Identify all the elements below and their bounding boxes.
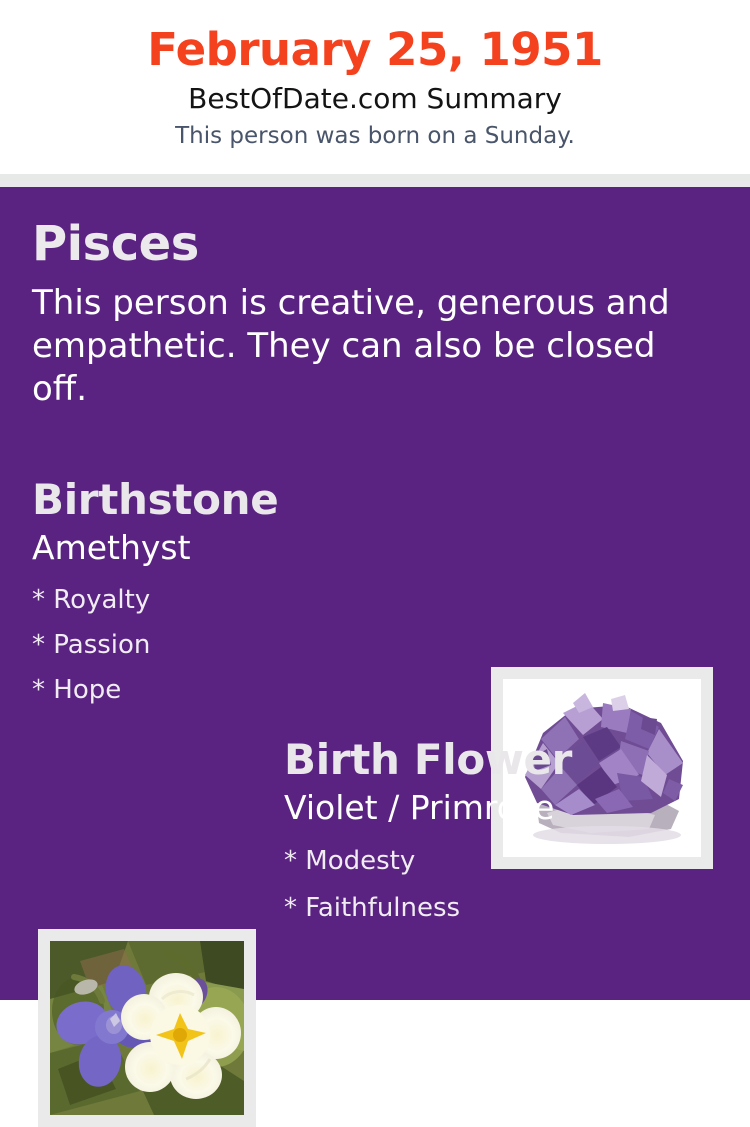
flower-icon	[50, 941, 244, 1115]
site-summary-label: BestOfDate.com Summary	[0, 81, 750, 117]
list-item: * Faithfulness	[284, 885, 734, 931]
birthstone-trait-list: * Royalty * Passion * Hope	[32, 578, 462, 712]
birthflower-section: Birth Flower Violet / Primrose * Modesty…	[284, 739, 734, 931]
zodiac-section: Pisces This person is creative, generous…	[32, 220, 718, 412]
birthflower-trait-list: * Modesty * Faithfulness	[284, 838, 734, 931]
born-day-text: This person was born on a Sunday.	[0, 122, 750, 152]
section-divider	[0, 174, 750, 187]
divider-top-band	[0, 174, 750, 181]
birthflower-name: Violet / Primrose	[284, 790, 734, 826]
list-item: * Passion	[32, 623, 462, 668]
birthstone-section: Birthstone Amethyst * Royalty * Passion …	[32, 479, 462, 712]
list-item: * Royalty	[32, 578, 462, 623]
list-item: * Modesty	[284, 838, 734, 884]
birthflower-image-frame	[38, 929, 256, 1127]
zodiac-description: This person is creative, generous and em…	[32, 282, 704, 412]
birthstone-heading: Birthstone	[32, 479, 462, 521]
list-item: * Hope	[32, 668, 462, 713]
birthflower-heading: Birth Flower	[284, 739, 734, 781]
birthflower-image	[50, 941, 244, 1115]
zodiac-sign-name: Pisces	[32, 220, 718, 268]
page-title: February 25, 1951	[0, 24, 750, 76]
summary-card: February 25, 1951 BestOfDate.com Summary…	[0, 0, 750, 1000]
details-panel: Pisces This person is creative, generous…	[0, 187, 750, 1000]
card-header: February 25, 1951 BestOfDate.com Summary…	[0, 0, 750, 174]
birthstone-name: Amethyst	[32, 530, 462, 566]
